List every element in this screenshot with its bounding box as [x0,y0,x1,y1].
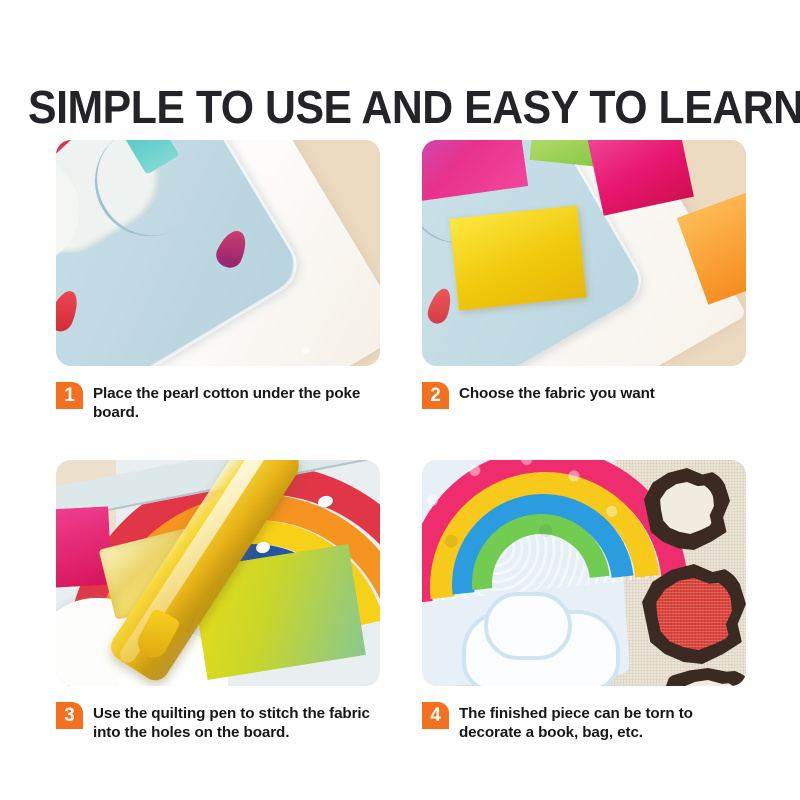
step-badge-4: 4 [422,702,449,729]
cloud-shape-secondary [484,592,572,660]
step-caption-1: Place the pearl cotton under the poke bo… [93,382,380,422]
step-photo-2 [422,140,746,366]
step-card-1: 1 Place the pearl cotton under the poke … [56,140,380,422]
step-caption-row-1: 1 Place the pearl cotton under the poke … [56,382,380,422]
fabric-square-yellow [450,206,587,311]
fabric-square-magenta [56,507,112,588]
step-caption-row-4: 4 The finished piece can be torn to deco… [422,702,746,742]
step-caption-row-3: 3 Use the quilting pen to stitch the fab… [56,702,380,742]
step-photo-1 [56,140,380,366]
step-photo-3 [56,460,380,686]
page-title: SIMPLE TO USE AND EASY TO LEARN [28,81,772,133]
step-badge-3: 3 [56,702,83,729]
step-caption-row-2: 2 Choose the fabric you want [422,382,746,409]
step-card-3: 3 Use the quilting pen to stitch the fab… [56,460,380,742]
step-caption-4: The finished piece can be torn to decora… [459,702,746,742]
step-caption-2: Choose the fabric you want [459,382,655,403]
step-card-2: 2 Choose the fabric you want [422,140,746,422]
step-photo-4 [422,460,746,686]
step-badge-1: 1 [56,382,83,409]
step-badge-2: 2 [422,382,449,409]
step-caption-3: Use the quilting pen to stitch the fabri… [93,702,380,742]
step-card-4: 4 The finished piece can be torn to deco… [422,460,746,742]
steps-grid: 1 Place the pearl cotton under the poke … [56,140,746,742]
